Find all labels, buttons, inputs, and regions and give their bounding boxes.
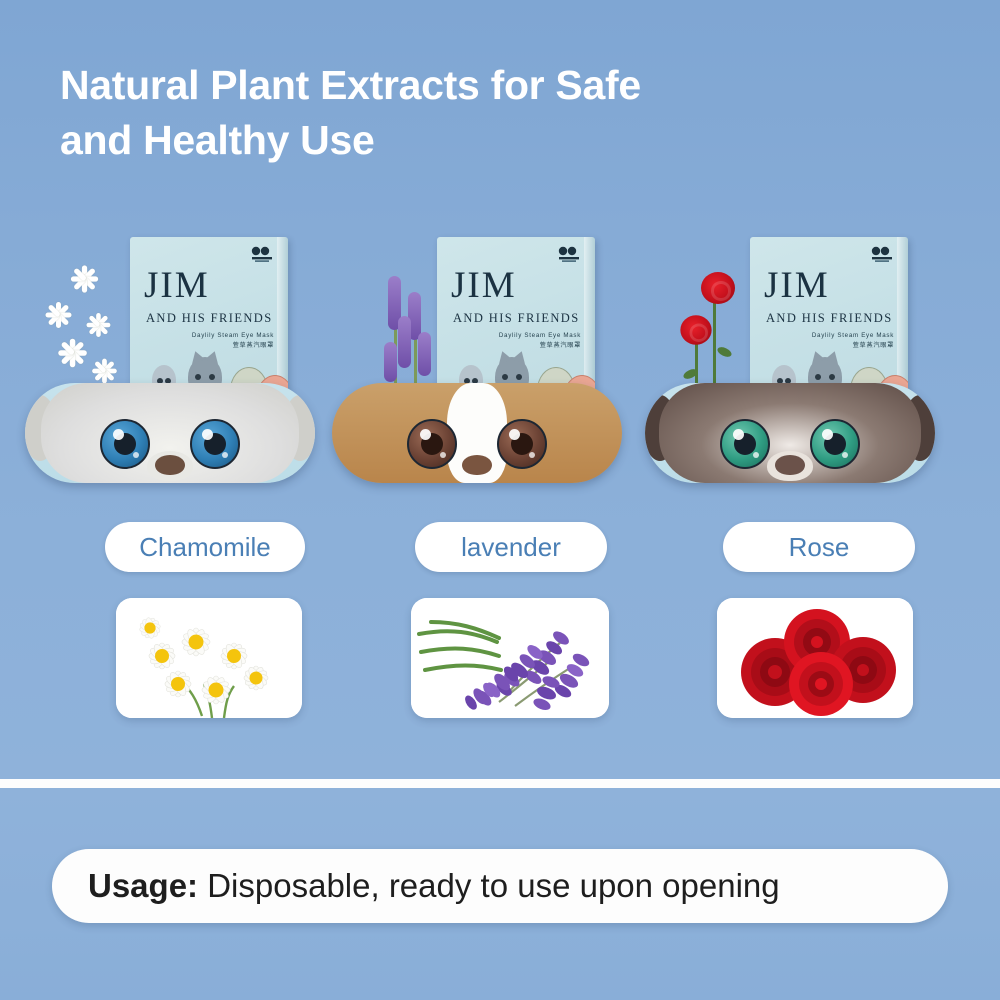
box-product-name-cn: 萱草蒸汽眼罩 — [192, 341, 274, 351]
product-row: JIM AND HIS FRIENDS Daylily Steam Eye Ma… — [0, 228, 1000, 518]
eye-mask-chamomile — [25, 383, 315, 483]
product-rose: JIM AND HIS FRIENDS Daylily Steam Eye Ma… — [645, 228, 965, 518]
mask-eye-right — [497, 419, 547, 469]
usage-description: Disposable, ready to use upon opening — [207, 867, 779, 904]
box-brand: JIM — [144, 267, 274, 304]
scent-label-chamomile[interactable]: Chamomile — [105, 522, 305, 572]
usage-label: Usage: — [88, 867, 198, 904]
scent-label-lavender[interactable]: lavender — [415, 522, 607, 572]
box-product-name-cn: 萱草蒸汽眼罩 — [812, 341, 894, 351]
box-tagline: AND HIS FRIENDS — [766, 311, 894, 326]
box-tagline: AND HIS FRIENDS — [453, 311, 581, 326]
box-brand: JIM — [764, 267, 894, 304]
mask-eye-right — [190, 419, 240, 469]
scent-label-row: Chamomile lavender Rose — [0, 522, 1000, 574]
box-product-name: Daylily Steam Eye Mask 萱草蒸汽眼罩 — [499, 331, 581, 350]
product-infographic: Natural Plant Extracts for Safe and Heal… — [0, 0, 1000, 1000]
headline-line-2: and Healthy Use — [60, 113, 860, 168]
page-title: Natural Plant Extracts for Safe and Heal… — [60, 58, 860, 167]
ingredient-photo-rose — [717, 598, 913, 718]
rose-decor-flowers — [661, 252, 757, 402]
eye-mask-rose — [645, 383, 935, 483]
product-chamomile: JIM AND HIS FRIENDS Daylily Steam Eye Ma… — [25, 228, 345, 518]
eye-mask-lavender — [332, 383, 622, 483]
chamomile-decor-flowers — [31, 256, 131, 396]
box-product-name: Daylily Steam Eye Mask 萱草蒸汽眼罩 — [192, 331, 274, 350]
ingredient-photo-lavender — [411, 598, 609, 718]
red-roses-image — [717, 598, 913, 718]
brand-logo-icon — [249, 245, 275, 263]
ingredient-photo-row — [0, 598, 1000, 724]
box-product-name-en: Daylily Steam Eye Mask — [812, 331, 894, 341]
lavender-sprigs-image — [411, 598, 609, 718]
scent-label-rose[interactable]: Rose — [723, 522, 915, 572]
product-lavender: JIM AND HIS FRIENDS Daylily Steam Eye Ma… — [332, 228, 652, 518]
brand-logo-icon — [556, 245, 582, 263]
usage-text-wrap: Usage: Disposable, ready to use upon ope… — [52, 867, 780, 905]
chamomile-flowers-image — [116, 598, 302, 718]
box-product-name: Daylily Steam Eye Mask 萱草蒸汽眼罩 — [812, 331, 894, 350]
ingredient-photo-chamomile — [116, 598, 302, 718]
box-product-name-en: Daylily Steam Eye Mask — [192, 331, 274, 341]
usage-banner: Usage: Disposable, ready to use upon ope… — [52, 849, 948, 923]
box-brand: JIM — [451, 267, 581, 304]
headline-line-1: Natural Plant Extracts for Safe — [60, 58, 860, 113]
box-tagline: AND HIS FRIENDS — [146, 311, 274, 326]
section-divider — [0, 779, 1000, 788]
mask-eye-right — [810, 419, 860, 469]
box-product-name-cn: 萱草蒸汽眼罩 — [499, 341, 581, 351]
brand-logo-icon — [869, 245, 895, 263]
box-product-name-en: Daylily Steam Eye Mask — [499, 331, 581, 341]
